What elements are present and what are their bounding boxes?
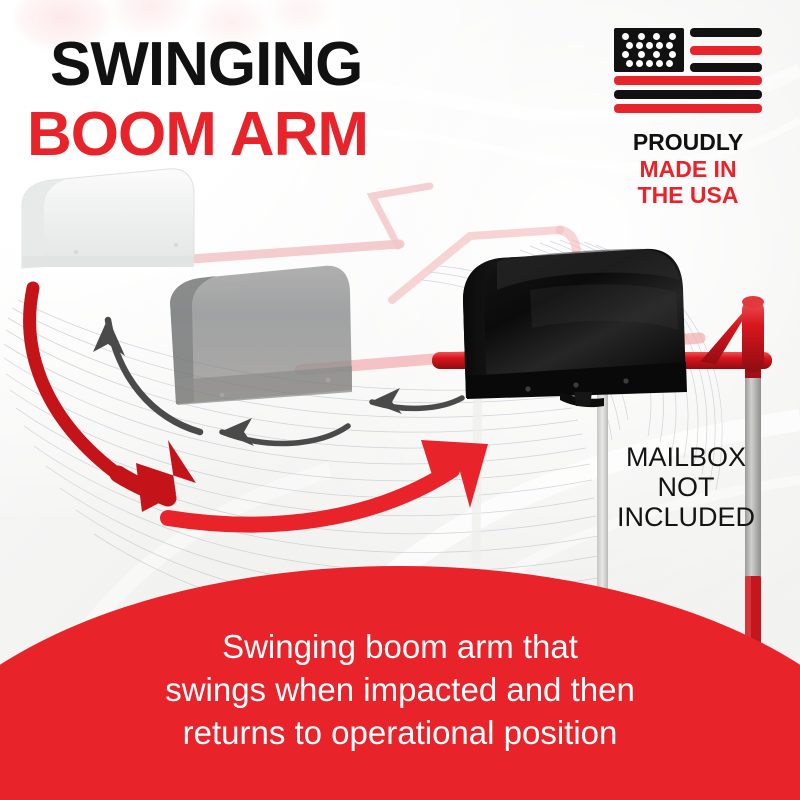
banner-line-3: returns to operational position	[0, 712, 800, 755]
red-swing-out-arrow	[30, 288, 196, 512]
us-flag-icon	[614, 28, 762, 113]
banner-line-2: swings when impacted and then	[0, 669, 800, 712]
badge-line-3: THE USA	[614, 182, 762, 209]
marketing-image-canvas: SWINGING BOOM ARM	[0, 0, 800, 800]
flag-short-stripes	[684, 28, 762, 72]
badge-text: PROUDLY MADE IN THE USA	[614, 129, 762, 209]
gray-return-arrowhead-1	[220, 418, 254, 446]
black-mailbox	[463, 249, 687, 407]
page-title: SWINGING BOOM ARM	[0, 34, 600, 169]
disclaimer-line-3: INCLUDED	[596, 502, 776, 532]
badge-line-2: MADE IN	[614, 156, 762, 183]
gray-swing-back-arrowhead	[93, 318, 125, 356]
flag-canton	[614, 28, 684, 72]
mailbox-ghost-white	[22, 169, 430, 268]
bottom-banner-text: Swinging boom arm that swings when impac…	[0, 626, 800, 755]
disclaimer-line-2: NOT	[596, 472, 776, 502]
title-line-1: SWINGING	[0, 34, 600, 96]
banner-line-1: Swinging boom arm that	[0, 626, 800, 669]
title-line-2: BOOM ARM	[0, 102, 600, 169]
flag-long-stripes	[614, 76, 762, 113]
mailbox-not-included-note: MAILBOX NOT INCLUDED	[596, 442, 776, 533]
disclaimer-line-1: MAILBOX	[596, 442, 776, 472]
badge-line-1: PROUDLY	[614, 129, 762, 156]
gray-return-arrowhead-2	[370, 388, 402, 414]
made-in-usa-badge: PROUDLY MADE IN THE USA	[614, 28, 784, 209]
